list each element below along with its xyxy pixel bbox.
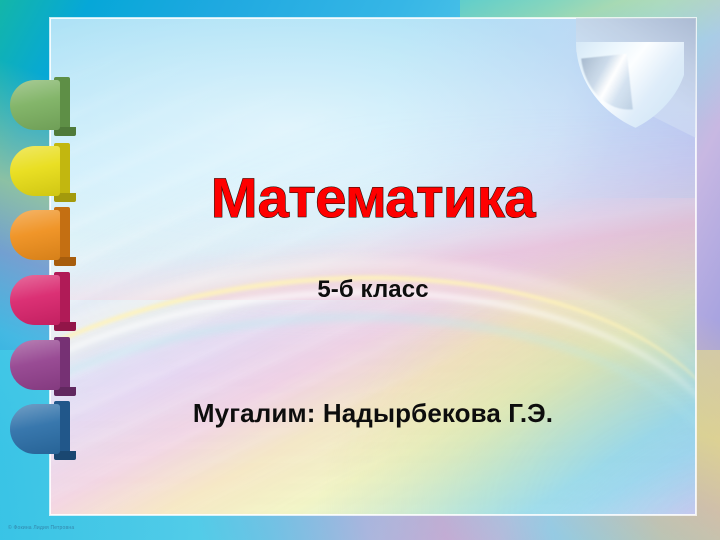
slide-title: Математика bbox=[50, 170, 696, 226]
presentation-slide: Математика 5-б класс Мугалим: Надырбеков… bbox=[0, 0, 720, 540]
copyright-watermark: © Фокина Лидия Петровна bbox=[8, 525, 74, 531]
slide-text-block: Математика 5-б класс Мугалим: Надырбеков… bbox=[50, 18, 696, 515]
slide-subtitle-class: 5-б класс bbox=[50, 276, 696, 304]
slide-presenter-line: Мугалим: Надырбекова Г.Э. bbox=[50, 398, 696, 429]
